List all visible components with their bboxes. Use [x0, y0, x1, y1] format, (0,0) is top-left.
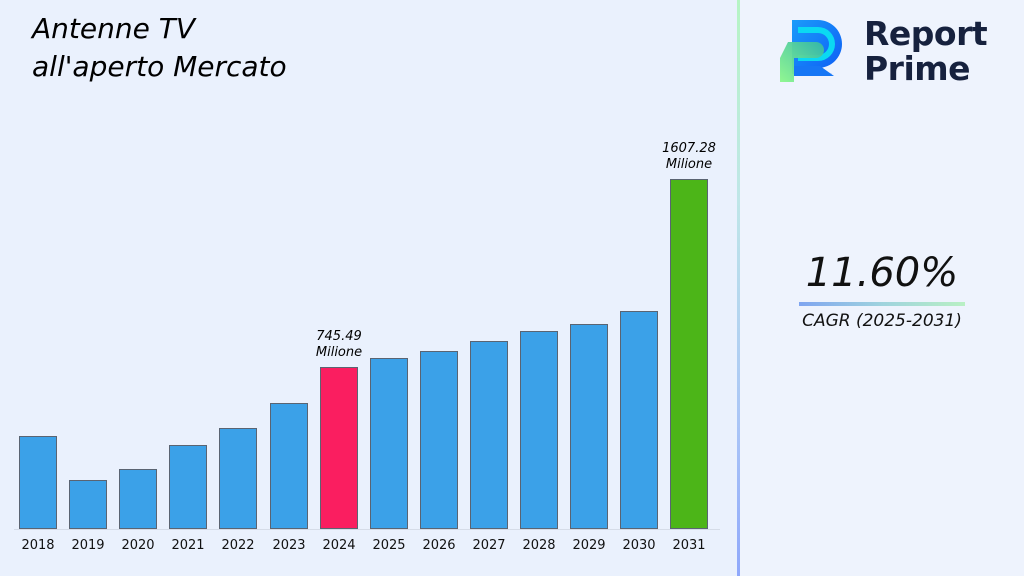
cagr-block: 11.60% CAGR (2025-2031)	[740, 250, 1024, 332]
cagr-caption: CAGR (2025-2031)	[740, 310, 1024, 332]
brand-logo: Report Prime	[776, 14, 987, 88]
bar-rect-2027	[470, 341, 508, 529]
bar-rect-2025	[370, 358, 408, 529]
cagr-value: 11.60%	[740, 250, 1024, 296]
bar-2030	[620, 0, 658, 529]
chart-screenshot: Antenne TV all'aperto Mercato 745.49 Mil…	[0, 0, 1024, 576]
bar-2021	[169, 0, 207, 529]
bar-2023	[270, 0, 308, 529]
chart-panel: Antenne TV all'aperto Mercato 745.49 Mil…	[0, 0, 738, 576]
bar-rect-2028	[520, 331, 558, 529]
bar-2025	[370, 0, 408, 529]
bar-2027	[470, 0, 508, 529]
bar-rect-2026	[420, 351, 458, 529]
bar-rect-2019	[69, 480, 107, 529]
bar-2028	[520, 0, 558, 529]
x-axis-baseline	[14, 529, 720, 530]
bar-2029	[570, 0, 608, 529]
bar-2031: 1607.28 Milione	[670, 0, 708, 529]
bar-value-label-2031: 1607.28 Milione	[629, 141, 749, 173]
bar-rect-2030	[620, 311, 658, 529]
cagr-divider-rule	[799, 302, 965, 306]
bar-rect-2018	[19, 436, 57, 529]
bar-2019	[69, 0, 107, 529]
bar-2024: 745.49 Milione	[320, 0, 358, 529]
bar-rect-2020	[119, 469, 157, 529]
bar-2022	[219, 0, 257, 529]
bar-rect-2029	[570, 324, 608, 529]
bar-rect-2024	[320, 367, 358, 529]
bar-2020	[119, 0, 157, 529]
x-tick-2031: 2031	[659, 538, 719, 553]
bar-2018	[19, 0, 57, 529]
bar-rect-2022	[219, 428, 257, 529]
brand-name: Report Prime	[864, 16, 987, 86]
bar-rect-2021	[169, 445, 207, 529]
sidebar-panel: Report Prime 11.60% CAGR (2025-2031)	[740, 0, 1024, 576]
x-axis-tick-labels: 2018201920202021202220232024202520262027…	[0, 538, 738, 568]
bar-2026	[420, 0, 458, 529]
bar-rect-2031	[670, 179, 708, 529]
report-prime-logo-mark-icon	[776, 14, 850, 88]
bar-rect-2023	[270, 403, 308, 529]
